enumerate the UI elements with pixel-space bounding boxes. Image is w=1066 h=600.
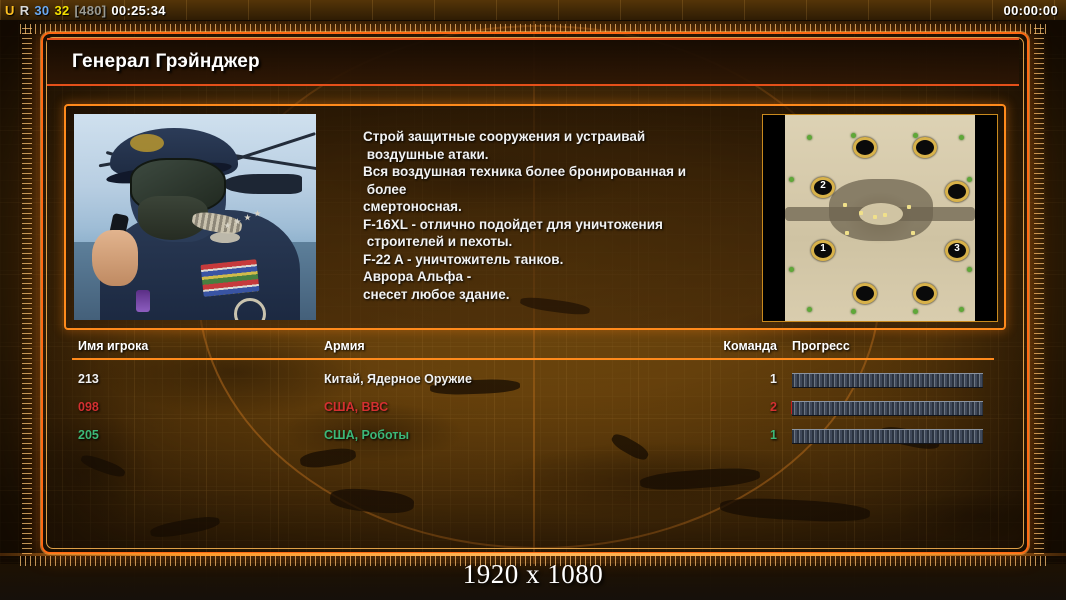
player-name: 213 (78, 372, 99, 386)
map-supply-dot (913, 309, 918, 314)
general-description: Строй защитные сооружения и устраивай во… (363, 128, 757, 303)
player-progress-bar (792, 373, 983, 388)
player-progress-bar (792, 429, 983, 444)
description-line: F-16XL - отлично подойдет для уничтожени… (363, 216, 757, 234)
map-start-position (853, 137, 877, 158)
player-team: 1 (717, 428, 777, 442)
map-unit-marker (883, 213, 887, 217)
description-line: смертоносная. (363, 198, 757, 216)
map-start-position-1: 1 (811, 240, 835, 261)
map-supply-dot (851, 133, 856, 138)
stat-yellow-number: 32 (54, 3, 69, 18)
map-preview[interactable]: 2 1 3 (762, 114, 998, 322)
general-portrait (74, 114, 316, 320)
player-army: США, ВВС (324, 400, 388, 414)
description-line: Аврора Альфа - (363, 268, 757, 286)
map-unit-marker (907, 205, 911, 209)
map-unit-marker (843, 203, 847, 207)
map-start-position-2: 2 (811, 177, 835, 198)
window-title-bar: Генерал Грэйнджер (47, 38, 1019, 86)
game-lobby-screen: UR 30 32 [480] 00:25:34 00:00:00 Генерал… (0, 0, 1066, 600)
resolution-label: 1920 x 1080 (0, 559, 1066, 590)
page-title: Генерал Грэйнджер (72, 51, 260, 73)
ur-prefix-r: R (20, 3, 30, 18)
table-row[interactable]: 205 США, Роботы 1 (72, 424, 994, 448)
session-clock: 00:00:00 (1004, 3, 1058, 18)
map-unit-marker (911, 231, 915, 235)
stat-blue-number: 30 (34, 3, 49, 18)
player-name: 205 (78, 428, 99, 442)
start-position-label: 1 (814, 241, 832, 256)
start-position-label: 3 (948, 241, 966, 256)
map-unit-marker (859, 211, 863, 215)
map-start-position-3: 3 (945, 240, 969, 261)
map-supply-dot (967, 177, 972, 182)
column-header-army: Армия (324, 339, 365, 353)
description-line: Вся воздушная техника более бронированна… (363, 163, 757, 181)
map-letterbox-right (975, 115, 997, 321)
map-supply-dot (807, 307, 812, 312)
player-team: 2 (717, 400, 777, 414)
footer-divider (0, 553, 1066, 556)
map-supply-dot (789, 267, 794, 272)
description-line: строителей и пехоты. (363, 233, 757, 251)
map-ridge (859, 203, 903, 225)
topbar-stats: UR 30 32 [480] 00:25:34 (5, 3, 166, 18)
table-row[interactable]: 098 США, ВВС 2 (72, 396, 994, 420)
map-supply-dot (959, 307, 964, 312)
portrait-hand (92, 230, 138, 286)
map-supply-dot (959, 135, 964, 140)
player-progress-bar (792, 401, 983, 416)
map-letterbox-left (763, 115, 785, 321)
map-start-position (913, 137, 937, 158)
description-line: Строй защитные сооружения и устраивай (363, 128, 757, 146)
ur-prefix-u: U (5, 3, 15, 18)
player-army: США, Роботы (324, 428, 409, 442)
general-info-panel: Строй защитные сооружения и устраивай во… (64, 104, 1006, 330)
stat-bracket-number: [480] (75, 3, 107, 18)
map-unit-marker (845, 231, 849, 235)
description-line: снесет любое здание. (363, 286, 757, 304)
map-start-position (945, 181, 969, 202)
map-supply-dot (967, 267, 972, 272)
map-supply-dot (851, 309, 856, 314)
map-supply-dot (789, 177, 794, 182)
map-unit-marker (873, 215, 877, 219)
table-row[interactable]: 213 Китай, Ядерное Оружие 1 (72, 368, 994, 392)
player-name: 098 (78, 400, 99, 414)
elapsed-clock: 00:25:34 (111, 3, 165, 18)
start-position-label: 2 (814, 178, 832, 193)
player-army: Китай, Ядерное Оружие (324, 372, 472, 386)
column-header-progress: Прогресс (792, 339, 850, 353)
ruler-left (22, 28, 32, 558)
pilot-wings-icon (210, 232, 240, 243)
ruler-right (1034, 28, 1044, 558)
map-start-position (913, 283, 937, 304)
player-list-panel: Имя игрока Армия Команда Прогресс 213 Ки… (72, 336, 994, 544)
column-header-name: Имя игрока (78, 339, 148, 353)
service-ribbons-icon (200, 259, 259, 297)
helicopter-icon (224, 174, 302, 194)
map-supply-dot (807, 135, 812, 140)
player-team: 1 (717, 372, 777, 386)
cap-insignia-icon (130, 134, 164, 152)
table-header-row: Имя игрока Армия Команда Прогресс (72, 336, 994, 360)
map-supply-dot (913, 133, 918, 138)
medal-icon (136, 290, 150, 312)
description-line: F-22 A - уничтожитель танков. (363, 251, 757, 269)
map-start-position (853, 283, 877, 304)
description-line: воздушные атаки. (363, 146, 757, 164)
top-status-bar: UR 30 32 [480] 00:25:34 00:00:00 (0, 0, 1066, 21)
description-line: более (363, 181, 757, 199)
column-header-team: Команда (717, 339, 777, 353)
